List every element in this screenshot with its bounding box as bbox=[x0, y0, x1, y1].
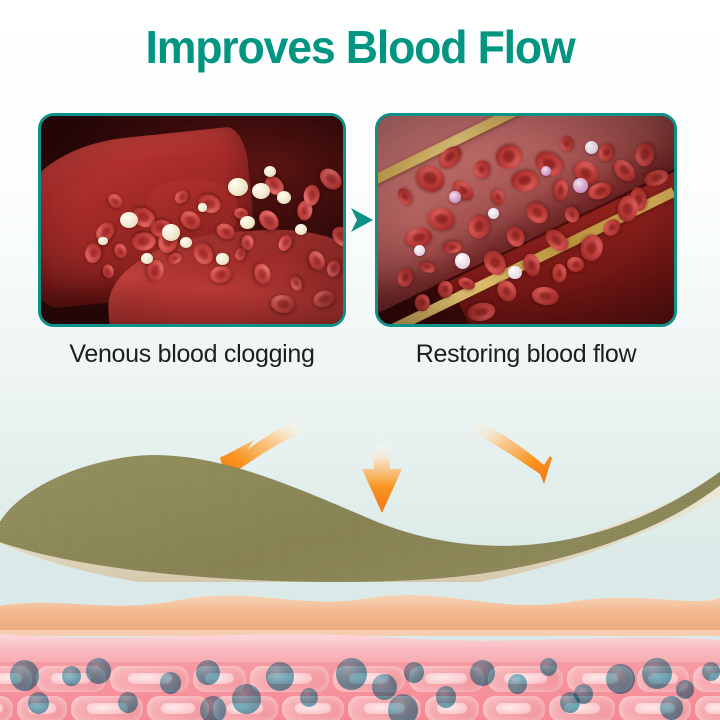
absorption-droplet bbox=[266, 662, 294, 691]
absorption-droplet bbox=[702, 662, 720, 681]
absorption-droplet bbox=[62, 666, 81, 686]
absorption-droplet bbox=[436, 686, 456, 708]
absorption-droplet bbox=[160, 672, 181, 694]
absorption-droplet bbox=[86, 658, 111, 684]
healthy-vessel-illustration bbox=[378, 116, 674, 324]
comparison-panel-after bbox=[375, 113, 677, 327]
absorption-droplet bbox=[372, 674, 397, 700]
clogged-vein-illustration bbox=[41, 116, 343, 324]
absorption-droplet bbox=[196, 660, 220, 685]
absorption-droplet bbox=[660, 696, 683, 720]
caption-before: Venous blood clogging bbox=[38, 340, 346, 369]
page-title: Improves Blood Flow bbox=[11, 20, 709, 74]
absorption-droplet bbox=[470, 660, 495, 686]
absorption-droplet bbox=[200, 696, 226, 720]
chevron-right-icon bbox=[348, 204, 376, 236]
skin-cross-section bbox=[0, 588, 720, 720]
curved-patch bbox=[0, 452, 720, 582]
vignette-overlay bbox=[41, 116, 343, 324]
vignette-overlay bbox=[378, 116, 674, 324]
absorption-droplet bbox=[388, 694, 418, 720]
comparison-panel-before bbox=[38, 113, 346, 327]
absorption-droplet bbox=[560, 692, 580, 713]
caption-after: Restoring blood flow bbox=[375, 340, 677, 369]
absorption-droplet bbox=[404, 662, 424, 683]
absorption-droplet bbox=[606, 664, 635, 694]
absorption-droplet bbox=[676, 680, 694, 699]
absorption-droplet bbox=[232, 684, 261, 714]
absorption-droplet bbox=[28, 692, 49, 714]
skin-cell bbox=[695, 696, 720, 720]
absorption-droplet bbox=[508, 674, 527, 694]
absorption-droplet bbox=[10, 660, 39, 691]
skin-cell bbox=[483, 696, 545, 720]
absorption-droplet bbox=[336, 658, 367, 690]
infographic-canvas: Improves Blood Flow Venous blood clo bbox=[0, 0, 720, 720]
